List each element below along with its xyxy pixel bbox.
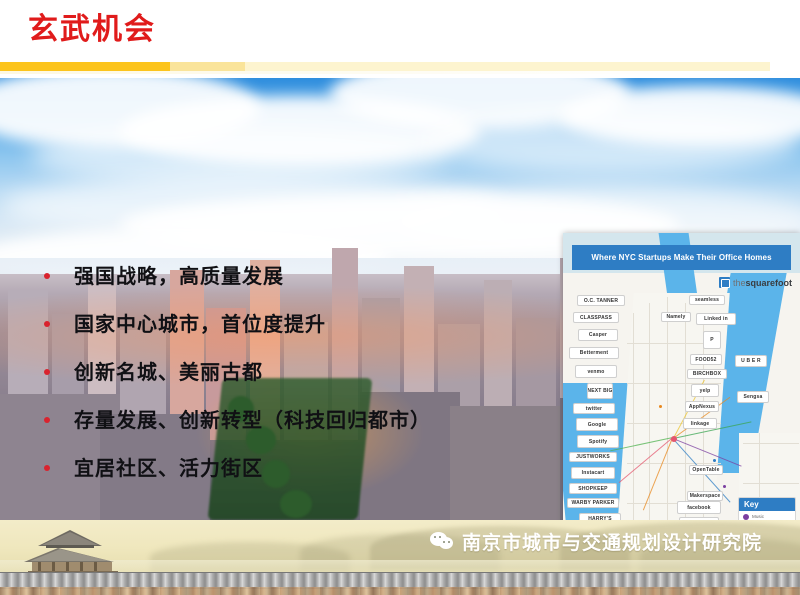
list-item: 创新名城、美丽古都: [44, 358, 514, 388]
bullet-marker-icon: [44, 465, 50, 471]
bullet-marker-icon: [44, 417, 50, 423]
map-header-title: Where NYC Startups Make Their Office Hom…: [591, 253, 771, 262]
map-logo-marker[interactable]: NEXT BIG: [587, 383, 613, 399]
nyc-startup-map-infographic[interactable]: Where NYC Startups Make Their Office Hom…: [563, 233, 800, 520]
map-logo-marker[interactable]: Namely: [661, 312, 691, 322]
squarefoot-mark-icon: [719, 277, 730, 288]
footer-organization: 南京市城市与交通规划设计研究院: [430, 528, 762, 555]
title-bar: 玄武机会: [0, 0, 800, 62]
legend-color-swatch: [743, 514, 749, 520]
wechat-icon: [430, 532, 453, 551]
map-logo-marker[interactable]: JUSTWORKS: [569, 452, 617, 462]
map-legend-title: Key: [739, 498, 795, 511]
bullet-marker-icon: [44, 369, 50, 375]
map-logo-marker[interactable]: Linked in: [696, 313, 736, 325]
background-photo: 强国战略，高质量发展 国家中心城市，首位度提升 创新名城、美丽古都 存量发展、创…: [0, 78, 800, 520]
divider-segment-1: [0, 62, 170, 71]
list-item-label: 创新名城、美丽古都: [74, 358, 263, 388]
divider-segment-3: [245, 62, 770, 71]
list-item: 宜居社区、活力街区: [44, 454, 514, 484]
map-legend: Key MusicFoodEcommerceFintechSocialOnDem…: [738, 497, 796, 521]
map-legend-row: Music: [743, 514, 791, 520]
map-logo-marker[interactable]: SHOPKEEP: [569, 483, 617, 494]
map-logo-marker[interactable]: O.C. TANNER: [577, 295, 625, 306]
map-logo-marker[interactable]: FOOD52: [690, 354, 722, 365]
map-logo-marker[interactable]: AppNexus: [685, 401, 719, 412]
organization-name: 南京市城市与交通规划设计研究院: [462, 528, 762, 555]
map-legend-items: MusicFoodEcommerceFintechSocialOnDemandO…: [739, 511, 795, 521]
map-logo-marker[interactable]: twitter: [573, 403, 615, 414]
slide: 玄武机会: [0, 0, 800, 595]
map-logo-marker[interactable]: HARRY'S: [579, 513, 621, 520]
squarefoot-brand-logo: thesquarefoot: [719, 277, 792, 288]
map-logo-marker[interactable]: facebook: [677, 501, 721, 514]
legend-label: Music: [752, 514, 764, 519]
squarefoot-brand-text: thesquarefoot: [733, 278, 792, 288]
footer-band: 南京市城市与交通规划设计研究院: [0, 520, 800, 595]
map-logo-marker[interactable]: yelp: [691, 384, 719, 397]
stone-wall-shading: [0, 587, 800, 595]
bullet-list: 强国战略，高质量发展 国家中心城市，首位度提升 创新名城、美丽古都 存量发展、创…: [44, 262, 514, 502]
list-item-label: 国家中心城市，首位度提升: [74, 310, 326, 340]
map-logo-marker[interactable]: Makerspace: [687, 491, 723, 501]
list-item-label: 宜居社区、活力街区: [74, 454, 263, 484]
list-item: 存量发展、创新转型（科技回归都市）: [44, 406, 514, 436]
list-item-label: 强国战略，高质量发展: [74, 262, 284, 292]
map-logo-marker[interactable]: linkage: [683, 418, 717, 429]
list-item: 强国战略，高质量发展: [44, 262, 514, 292]
list-item: 国家中心城市，首位度提升: [44, 310, 514, 340]
map-logo-marker[interactable]: P: [703, 331, 721, 349]
map-logo-marker[interactable]: Betterment: [569, 347, 619, 359]
map-logo-marker[interactable]: Google: [576, 418, 618, 431]
map-logo-marker[interactable]: BIRCHBOX: [687, 369, 727, 379]
map-logo-marker[interactable]: seamless: [689, 295, 725, 305]
divider-bar: [0, 62, 800, 71]
map-logo-marker[interactable]: CLASSPASS: [573, 312, 619, 323]
bullet-marker-icon: [44, 321, 50, 327]
map-header: Where NYC Startups Make Their Office Hom…: [572, 245, 791, 270]
map-logo-marker[interactable]: Casper: [578, 329, 618, 341]
divider-segment-2: [170, 62, 245, 71]
map-logo-marker[interactable]: Sengsa: [737, 391, 769, 403]
map-logo-marker[interactable]: WARBY PARKER: [567, 498, 619, 508]
map-logo-marker[interactable]: U B E R: [735, 355, 767, 367]
pagoda-illustration: [18, 530, 128, 574]
map-logo-marker[interactable]: venmo: [575, 365, 617, 378]
map-logo-marker[interactable]: OpenTable: [689, 465, 723, 475]
map-logo-marker[interactable]: Spotify: [577, 435, 619, 448]
map-logo-marker[interactable]: Instacart: [571, 467, 615, 479]
divider-hairline: [0, 71, 690, 74]
page-title: 玄武机会: [28, 10, 156, 50]
bullet-marker-icon: [44, 273, 50, 279]
list-item-label: 存量发展、创新转型（科技回归都市）: [74, 406, 431, 436]
